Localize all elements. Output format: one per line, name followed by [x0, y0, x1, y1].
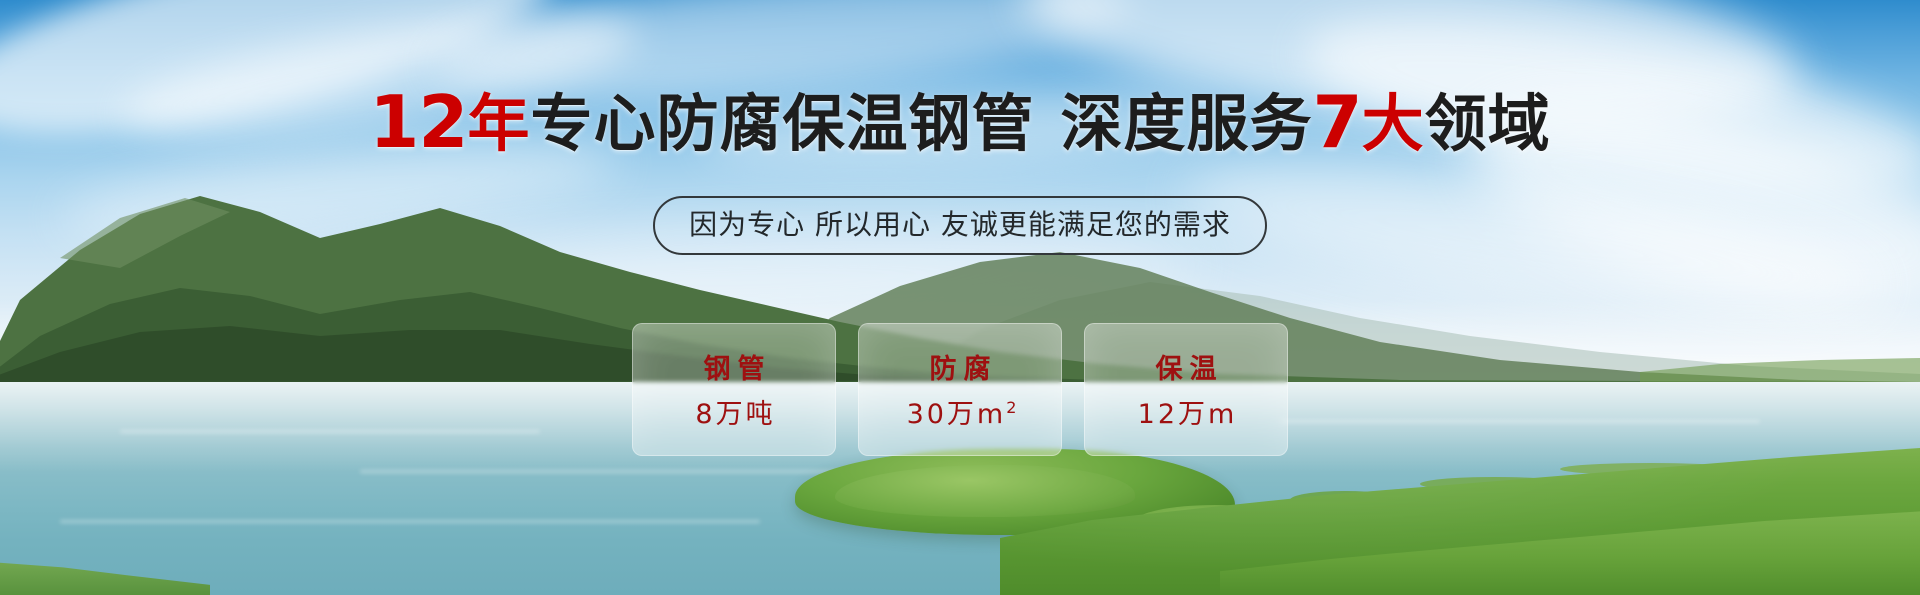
stat-card-value-text: 12万m	[1138, 399, 1238, 430]
headline-years-number: 12	[369, 80, 467, 164]
stat-card-list: 钢管 8万吨 防腐 30万m2 保温 12万m	[0, 323, 1920, 456]
stat-card-title: 防腐	[923, 356, 998, 383]
stat-card: 防腐 30万m2	[858, 323, 1062, 456]
banner-headline: 12年专心防腐保温钢管深度服务7大领域	[0, 86, 1920, 158]
stat-card-value: 30万m2	[904, 400, 1017, 428]
headline-years-unit: 年	[468, 87, 531, 160]
hero-banner: 12年专心防腐保温钢管深度服务7大领域 因为专心 所以用心 友诚更能满足您的需求…	[0, 0, 1920, 595]
banner-content: 12年专心防腐保温钢管深度服务7大领域 因为专心 所以用心 友诚更能满足您的需求…	[0, 0, 1920, 595]
stat-card-value-text: 30万m	[907, 399, 1007, 430]
headline-service-text: 深度服务	[1061, 87, 1313, 160]
headline-fields-unit: 大	[1362, 87, 1425, 160]
stat-card: 保温 12万m	[1084, 323, 1288, 456]
banner-subtitle-pill: 因为专心 所以用心 友诚更能满足您的需求	[653, 196, 1267, 255]
stat-card-value-sup: 2	[1006, 398, 1016, 417]
stat-card: 钢管 8万吨	[632, 323, 836, 456]
stat-card-value: 12万m	[1135, 400, 1238, 428]
stat-card-value: 8万吨	[692, 400, 775, 428]
headline-fields-number: 7	[1313, 80, 1362, 164]
headline-fields-tail: 领域	[1425, 87, 1551, 160]
banner-subtitle-wrapper: 因为专心 所以用心 友诚更能满足您的需求	[0, 196, 1920, 255]
stat-card-title: 保温	[1149, 356, 1224, 383]
stat-card-title: 钢管	[697, 356, 772, 383]
headline-main-text: 专心防腐保温钢管	[531, 87, 1035, 160]
stat-card-value-text: 8万吨	[695, 399, 775, 430]
